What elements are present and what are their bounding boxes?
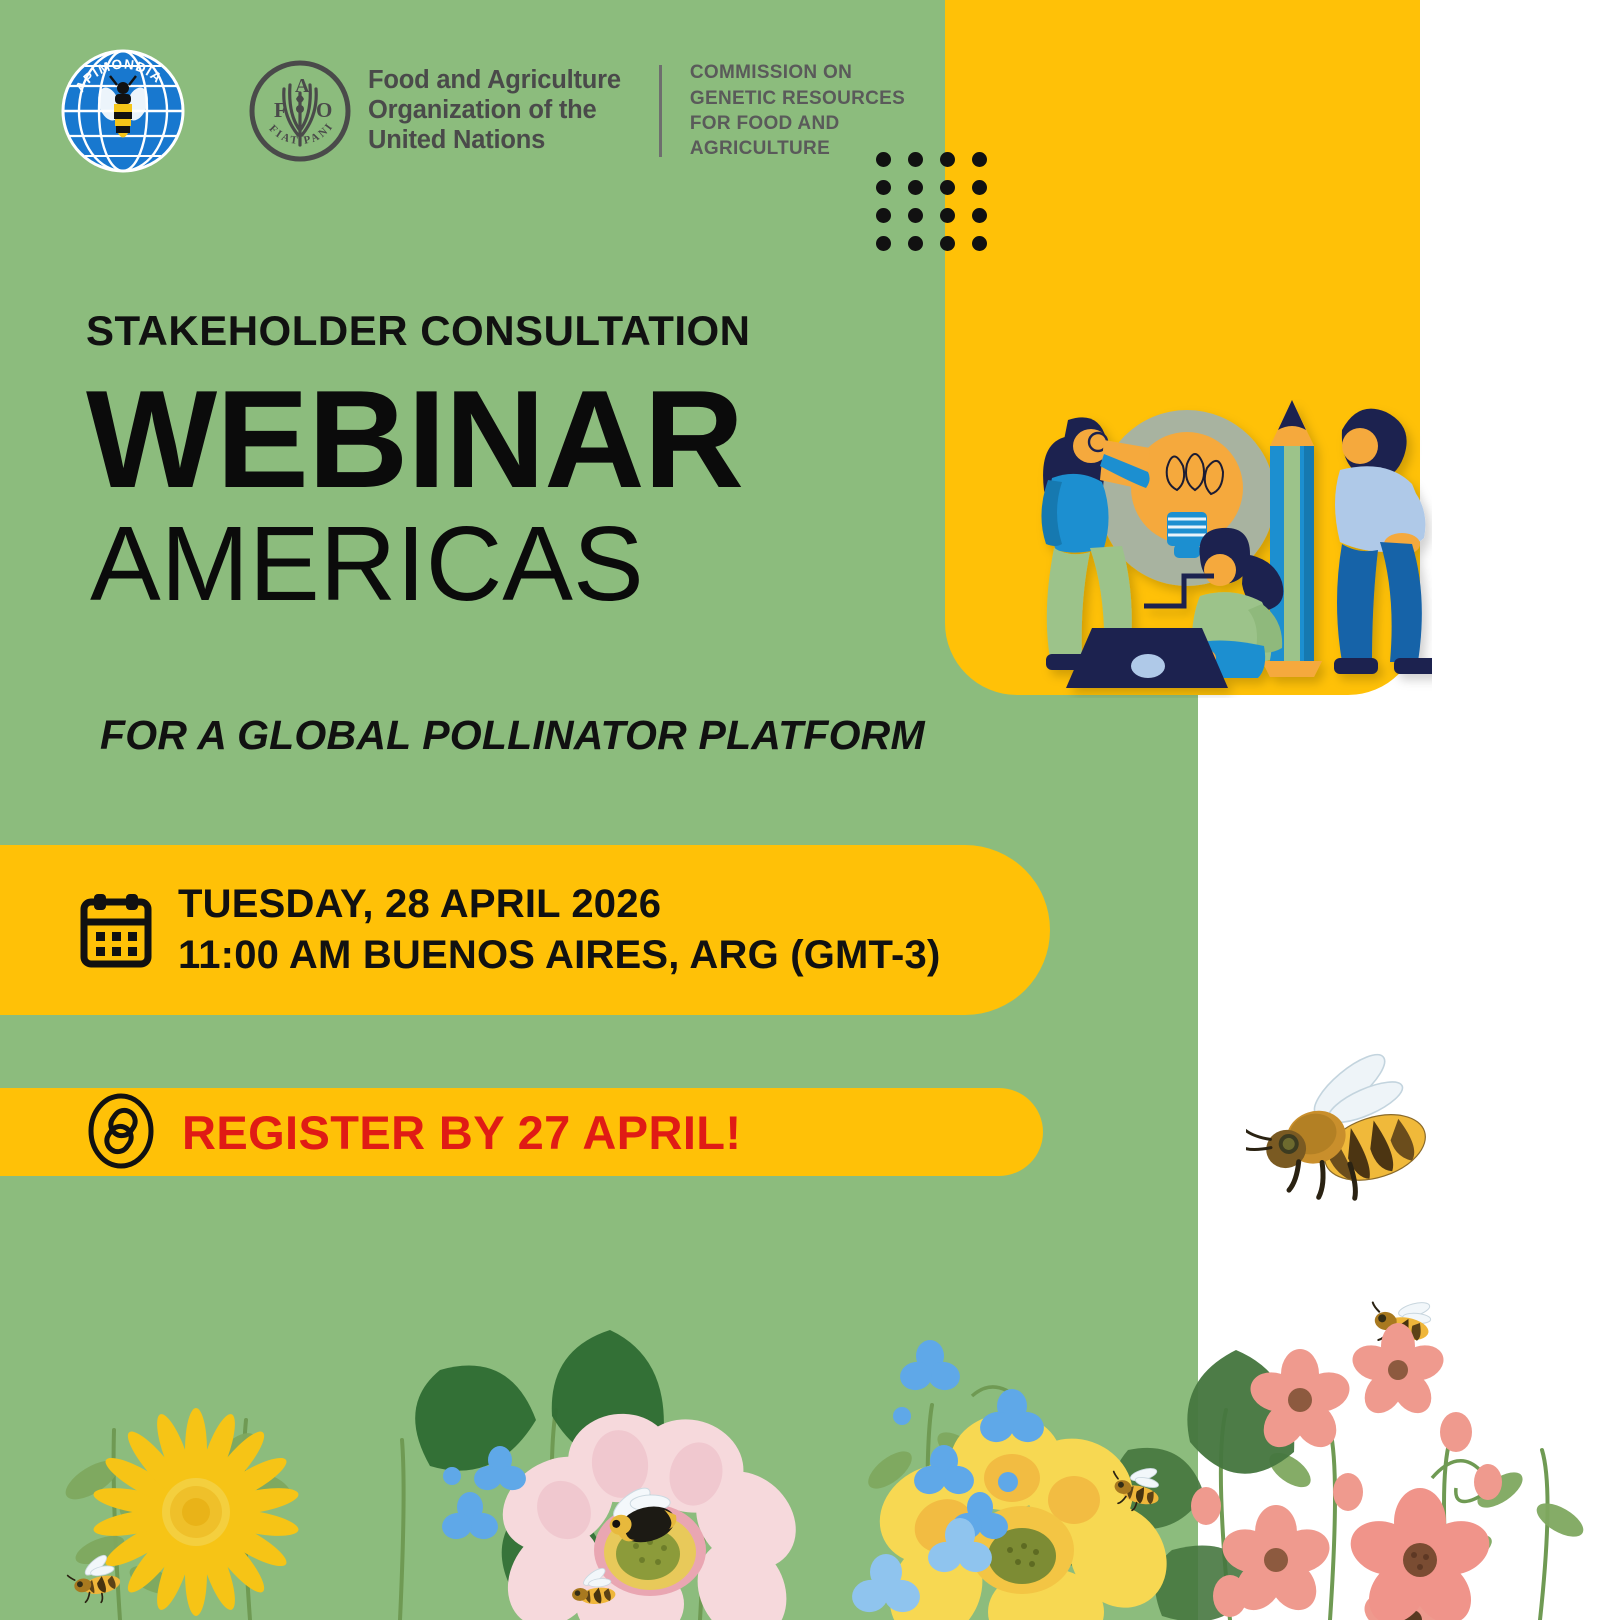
fao-logo-block: F A O FIAT PANIS Food and Agriculture Or… bbox=[248, 59, 621, 163]
calendar-icon bbox=[80, 892, 152, 968]
fao-name-line-3: United Nations bbox=[368, 126, 621, 156]
svg-text:A: A bbox=[295, 75, 310, 97]
page-subtitle: AMERICAS bbox=[90, 509, 946, 619]
cgrfa-line-1: COMMISSION ON bbox=[690, 60, 905, 85]
fao-name-line-2: Organization of the bbox=[368, 96, 621, 126]
kicker-text: STAKEHOLDER CONSULTATION bbox=[86, 310, 946, 352]
webinar-poster: APIMONDIA bbox=[0, 0, 1620, 1620]
cgrfa-text: COMMISSION ON GENETIC RESOURCES FOR FOOD… bbox=[690, 60, 905, 162]
date-line: TUESDAY, 28 APRIL 2026 bbox=[178, 882, 940, 927]
cgrfa-line-3: FOR FOOD AND bbox=[690, 111, 905, 136]
date-time-banner: TUESDAY, 28 APRIL 2026 11:00 AM BUENOS A… bbox=[0, 845, 1050, 1015]
logo-row: APIMONDIA bbox=[60, 48, 905, 174]
fao-name-line-1: Food and Agriculture bbox=[368, 66, 621, 96]
apimondia-logo-icon: APIMONDIA bbox=[60, 48, 186, 174]
people-lightbulb-illustration bbox=[962, 358, 1432, 698]
svg-text:O: O bbox=[316, 98, 332, 122]
svg-text:F: F bbox=[274, 98, 287, 122]
link-chain-icon bbox=[82, 1092, 160, 1170]
register-cta-text: REGISTER BY 27 APRIL! bbox=[182, 1105, 741, 1160]
honeybee-illustration bbox=[1246, 1044, 1446, 1229]
tagline-text: FOR A GLOBAL POLLINATOR PLATFORM bbox=[100, 712, 946, 759]
headline-block: STAKEHOLDER CONSULTATION WEBINAR AMERICA… bbox=[86, 310, 946, 759]
fao-emblem-icon: F A O FIAT PANIS bbox=[248, 59, 352, 163]
time-line: 11:00 AM BUENOS AIRES, ARG (GMT-3) bbox=[178, 933, 940, 978]
floral-border-illustration bbox=[0, 1220, 1620, 1620]
cgrfa-line-4: AGRICULTURE bbox=[690, 136, 905, 161]
page-title: WEBINAR bbox=[86, 366, 946, 513]
logo-divider bbox=[659, 65, 662, 157]
register-banner[interactable]: REGISTER BY 27 APRIL! bbox=[0, 1088, 1043, 1176]
cgrfa-line-2: GENETIC RESOURCES bbox=[690, 86, 905, 111]
fao-name-text: Food and Agriculture Organization of the… bbox=[368, 66, 621, 155]
